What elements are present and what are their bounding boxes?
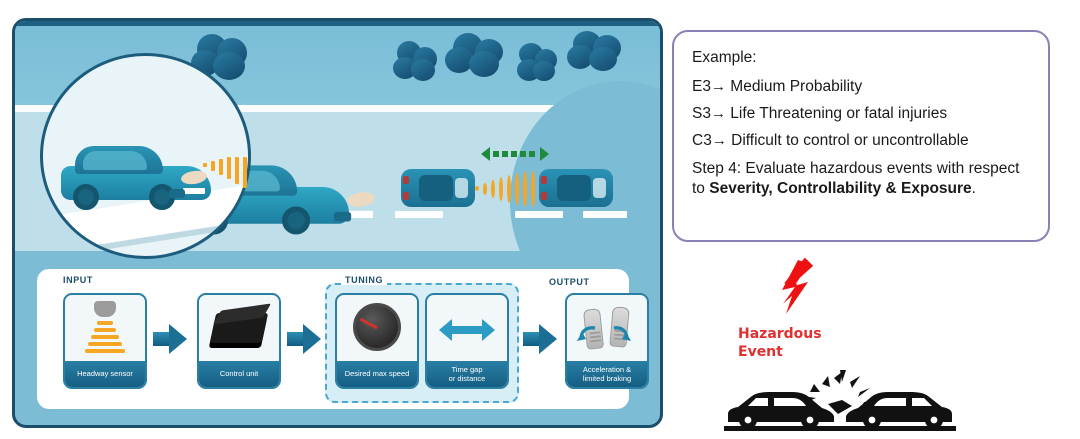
right-arrow-icon: → bbox=[711, 105, 726, 122]
line-key: C3 bbox=[692, 132, 712, 149]
node-caption: Control unit bbox=[199, 361, 279, 387]
section-label-input: INPUT bbox=[63, 275, 93, 285]
card-line-c3: C3→ Difficult to control or uncontrollab… bbox=[692, 131, 1032, 151]
car-wheel bbox=[282, 206, 310, 234]
flow-arrow-1 bbox=[153, 324, 187, 354]
card-step-text: Step 4: Evaluate hazardous events with r… bbox=[692, 159, 1032, 199]
car-3quarter-view bbox=[61, 134, 211, 214]
right-arrow-icon: → bbox=[711, 78, 726, 95]
taillight bbox=[403, 192, 409, 200]
node-caption: Time gap or distance bbox=[427, 361, 507, 387]
magnifier-circle bbox=[40, 53, 251, 259]
node-desired-max-speed[interactable]: Desired max speed bbox=[335, 293, 419, 389]
car-roof bbox=[557, 175, 591, 201]
right-arrow-icon: → bbox=[712, 132, 727, 149]
line-text: Life Threatening or fatal injuries bbox=[730, 105, 947, 122]
speedometer-icon bbox=[337, 295, 417, 361]
card-title: Example: bbox=[692, 48, 1032, 68]
node-time-gap[interactable]: Time gap or distance bbox=[425, 293, 509, 389]
lane-dash bbox=[395, 211, 443, 218]
pedals-icon bbox=[567, 295, 647, 361]
tree-cloud-5 bbox=[567, 31, 623, 73]
line-key: E3 bbox=[692, 78, 711, 95]
lane-dash bbox=[515, 211, 563, 218]
car-wheel bbox=[73, 184, 99, 210]
hazardous-event-illustration: Hazardous Event bbox=[700, 258, 980, 434]
sensor-cone-icon bbox=[65, 295, 145, 361]
acc-flow-diagram: INPUT TUNING OUTPUT Headway sensor bbox=[37, 269, 629, 409]
card-line-s3: S3→ Life Threatening or fatal injuries bbox=[692, 104, 1032, 124]
sensor-beam-cone bbox=[203, 157, 261, 197]
pedal-motion-arrows bbox=[567, 295, 647, 361]
car-windshield bbox=[455, 178, 468, 198]
taillight bbox=[541, 192, 547, 200]
lead-vehicle-topdown bbox=[401, 169, 475, 207]
collision-silhouettes bbox=[710, 370, 970, 434]
double-arrow-icon bbox=[427, 295, 507, 361]
radar-wave-cone bbox=[475, 171, 541, 207]
car-collision-icon bbox=[710, 370, 970, 434]
taillight bbox=[541, 176, 547, 184]
magnified-vehicle bbox=[61, 134, 211, 214]
tree-cloud-4 bbox=[515, 43, 559, 83]
flow-arrow-2 bbox=[287, 324, 321, 354]
acc-illustration-panel: INPUT TUNING OUTPUT Headway sensor bbox=[12, 18, 663, 428]
gauge-needle bbox=[360, 318, 378, 329]
tree-cloud-2 bbox=[393, 41, 441, 83]
black-box-icon bbox=[199, 295, 279, 361]
flow-arrow-3 bbox=[523, 324, 557, 354]
node-caption: Desired max speed bbox=[337, 361, 417, 387]
tree-cloud-3 bbox=[445, 33, 507, 79]
hazard-label-line2: Event bbox=[738, 344, 918, 362]
license-plate bbox=[183, 188, 205, 194]
hazard-label-line1: Hazardous bbox=[738, 326, 918, 344]
headlight bbox=[346, 191, 376, 209]
line-text: Difficult to control or uncontrollable bbox=[731, 132, 969, 149]
section-label-tuning: TUNING bbox=[341, 275, 387, 285]
step-bold: Severity, Controllability & Exposure bbox=[709, 180, 971, 197]
following-vehicle-topdown bbox=[539, 169, 613, 207]
node-caption: Acceleration & limited braking bbox=[567, 361, 647, 387]
line-key: S3 bbox=[692, 105, 711, 122]
arrow-left-tip bbox=[481, 147, 490, 161]
step-suffix: . bbox=[972, 180, 976, 197]
front-vent bbox=[334, 212, 351, 222]
screenshot-root: INPUT TUNING OUTPUT Headway sensor bbox=[0, 0, 1080, 438]
distance-gap-arrow bbox=[481, 147, 549, 161]
car-roof bbox=[419, 175, 453, 201]
line-text: Medium Probability bbox=[730, 78, 862, 95]
example-text-card: Example: E3→ Medium Probability S3→ Life… bbox=[672, 30, 1050, 242]
node-headway-sensor[interactable]: Headway sensor bbox=[63, 293, 147, 389]
arrow-right-tip bbox=[540, 147, 549, 161]
taillight bbox=[403, 176, 409, 184]
node-caption: Headway sensor bbox=[65, 361, 145, 387]
lane-dash bbox=[583, 211, 627, 218]
panel-top-rule bbox=[15, 21, 660, 26]
license-plate bbox=[349, 211, 373, 217]
front-vent bbox=[169, 189, 185, 198]
card-line-e3: E3→ Medium Probability bbox=[692, 77, 1032, 97]
car-windshield bbox=[593, 178, 606, 198]
ground-line bbox=[724, 426, 956, 431]
section-label-output: OUTPUT bbox=[549, 277, 590, 287]
car-window bbox=[83, 151, 147, 170]
hazard-label: Hazardous Event bbox=[738, 326, 918, 362]
node-control-unit[interactable]: Control unit bbox=[197, 293, 281, 389]
lightning-bolt-icon bbox=[768, 258, 820, 330]
node-acceleration-braking[interactable]: Acceleration & limited braking bbox=[565, 293, 649, 389]
